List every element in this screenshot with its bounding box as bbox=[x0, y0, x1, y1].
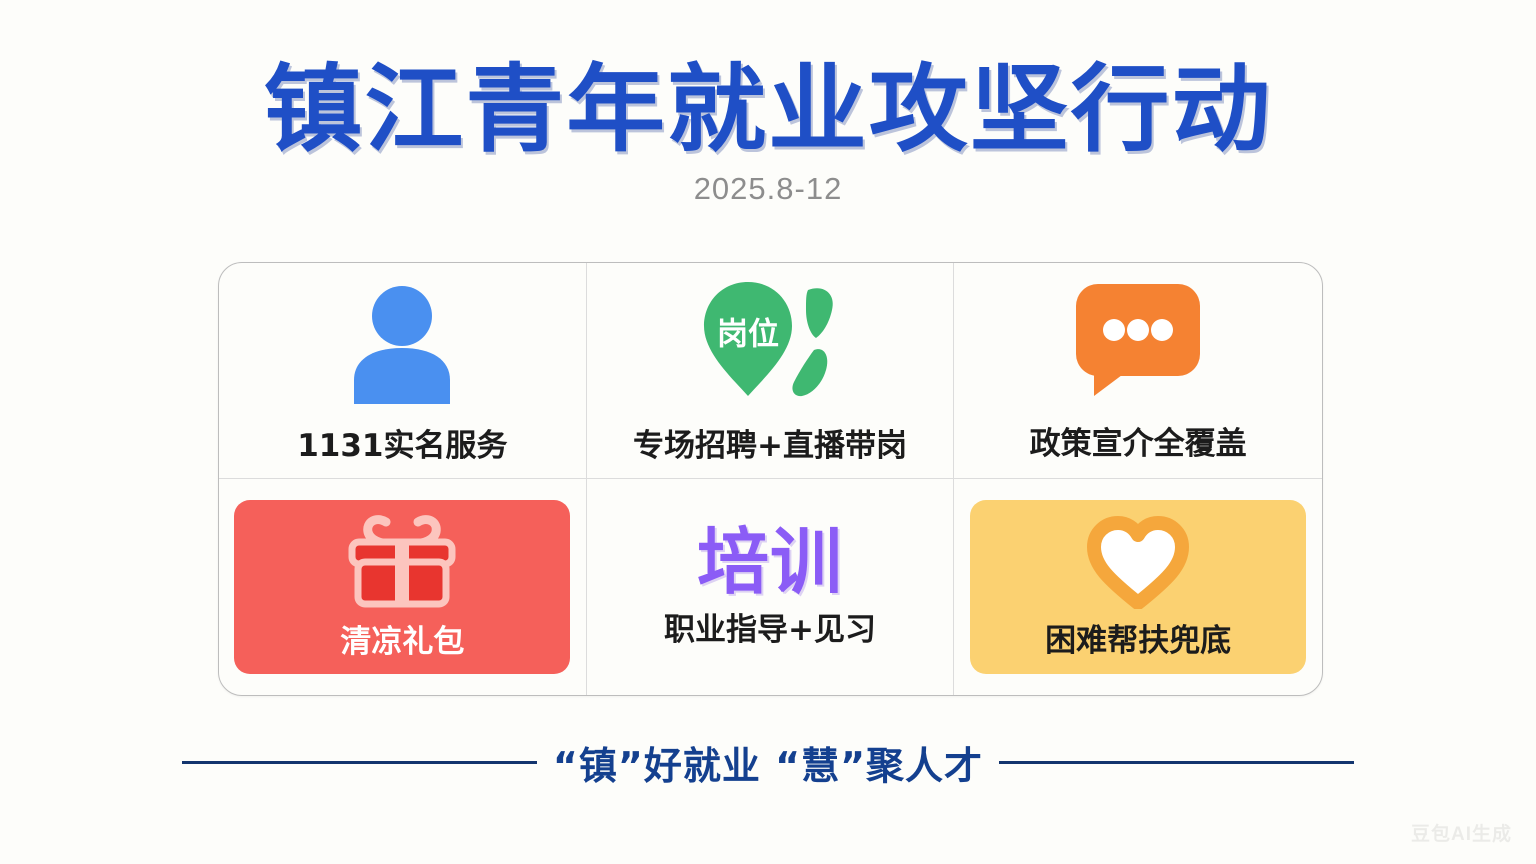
poster-canvas: 镇江青年就业攻坚行动 2025.8-12 1131实名服务 bbox=[0, 0, 1536, 864]
grid-cell-real-name-service[interactable]: 1131实名服务 bbox=[219, 263, 587, 479]
feature-grid-container: 1131实名服务 岗位 专场招聘+直播带岗 bbox=[218, 262, 1323, 696]
grid-cell-training-guidance[interactable]: 培训 职业指导+见习 bbox=[587, 479, 955, 695]
footer-slogan-bar: “镇”好就业 “慧”聚人才 bbox=[0, 735, 1536, 790]
location-pin-icon: 岗位 bbox=[690, 276, 850, 404]
cell-label: 1131实名服务 bbox=[297, 420, 507, 465]
cell-content: 培训 职业指导+见习 bbox=[587, 479, 954, 695]
cell-content: 岗位 专场招聘+直播带岗 bbox=[587, 263, 954, 478]
grid-cell-policy-coverage[interactable]: 政策宣介全覆盖 bbox=[954, 263, 1322, 479]
cell-label: 困难帮扶兜底 bbox=[1045, 615, 1231, 660]
page-subtitle: 2025.8-12 bbox=[0, 171, 1536, 207]
cell-label: 政策宣介全覆盖 bbox=[1030, 418, 1247, 463]
cell-label: 专场招聘+直播带岗 bbox=[633, 420, 907, 465]
grid-cell-job-fair-live[interactable]: 岗位 专场招聘+直播带岗 bbox=[587, 263, 955, 479]
heart-icon bbox=[1086, 515, 1190, 609]
footer-slogan: “镇”好就业 “慧”聚人才 bbox=[553, 735, 983, 790]
cell-content: 1131实名服务 bbox=[219, 263, 586, 478]
person-icon bbox=[338, 276, 466, 404]
hardship-card: 困难帮扶兜底 bbox=[970, 500, 1306, 674]
feature-grid: 1131实名服务 岗位 专场招聘+直播带岗 bbox=[219, 263, 1322, 695]
gift-card: 清凉礼包 bbox=[234, 500, 570, 674]
cell-label: 职业指导+见习 bbox=[664, 604, 876, 649]
speech-bubble-icon bbox=[1068, 278, 1208, 402]
grid-cell-cooling-gift-pack[interactable]: 清凉礼包 bbox=[219, 479, 587, 695]
grid-cell-hardship-support[interactable]: 困难帮扶兜底 bbox=[954, 479, 1322, 695]
gift-icon bbox=[346, 514, 458, 610]
poster-header: 镇江青年就业攻坚行动 2025.8-12 bbox=[0, 62, 1536, 207]
watermark: 豆包AI生成 bbox=[1411, 819, 1512, 846]
page-title: 镇江青年就业攻坚行动 bbox=[0, 62, 1536, 159]
footer-rule-left bbox=[182, 761, 537, 764]
cell-content: 政策宣介全覆盖 bbox=[954, 263, 1322, 478]
training-text-icon: 培训 bbox=[697, 526, 843, 598]
pin-icon-text: 岗位 bbox=[717, 317, 779, 353]
footer-rule-right bbox=[999, 761, 1354, 764]
cell-label: 清凉礼包 bbox=[340, 616, 464, 661]
